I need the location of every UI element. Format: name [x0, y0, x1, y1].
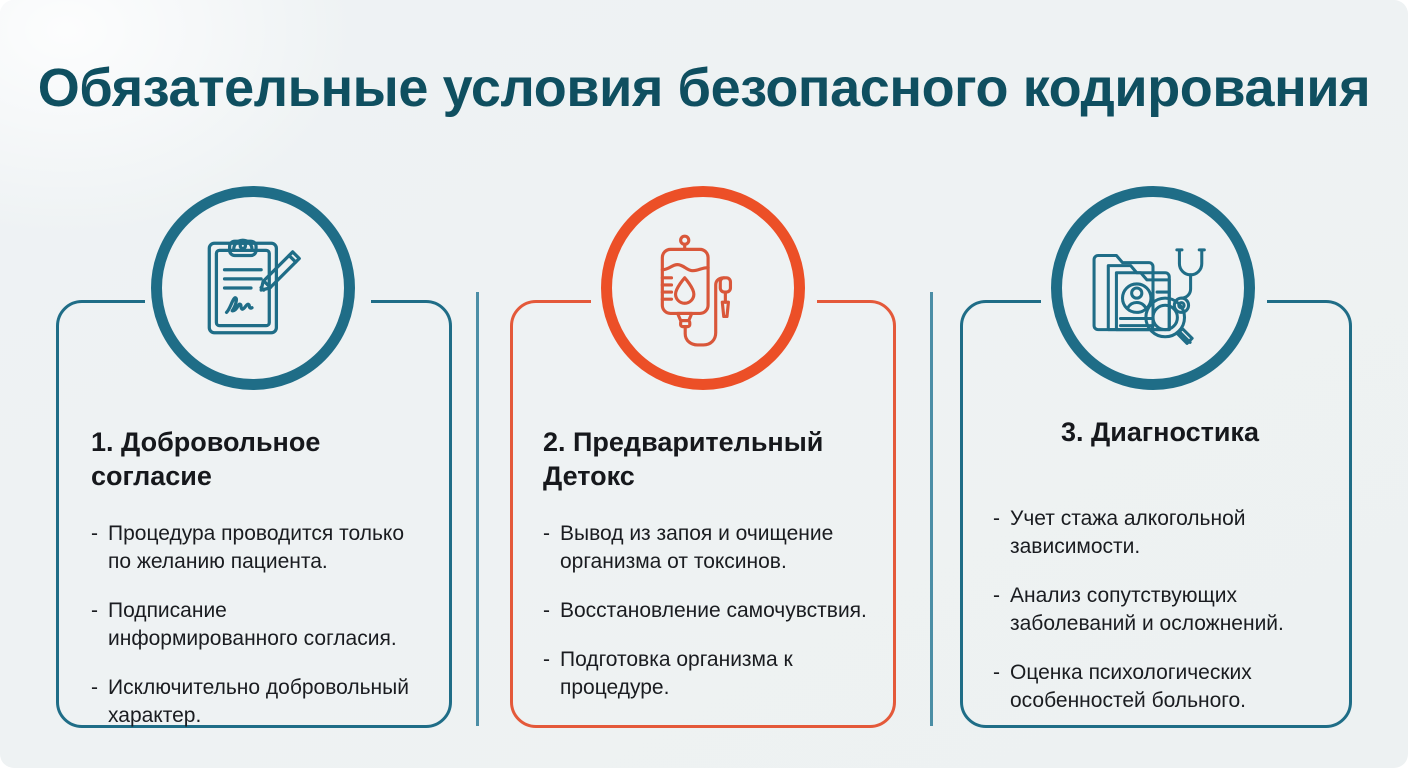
list-item: -Вывод из запоя и очищение организма от … [543, 520, 871, 576]
card-bullet-list-3: -Учет стажа алкогольной зависимости. -Ан… [993, 505, 1327, 715]
infographic-canvas: Обязательные условия безопасного кодиров… [0, 0, 1408, 768]
bullet-dash: - [993, 582, 1000, 610]
column-divider-2 [930, 292, 933, 726]
bullet-text: Оценка психологических особенностей боль… [1010, 661, 1252, 712]
bullet-text: Подписание информированного согласия. [108, 599, 397, 650]
list-item: -Учет стажа алкогольной зависимости. [993, 505, 1327, 561]
clipboard-signature-pen-icon [192, 227, 314, 349]
step-icon-circle-2 [601, 186, 805, 390]
bullet-text: Процедура проводится только по желанию п… [108, 522, 404, 573]
card-content-1: 1. Добровольное согласие -Процедура пров… [59, 425, 449, 730]
card-heading-2: 2. Предварительный Детокс [543, 425, 871, 494]
card-bullet-list-2: -Вывод из запоя и очищение организма от … [543, 520, 871, 702]
card-content-2: 2. Предварительный Детокс -Вывод из запо… [513, 425, 893, 702]
list-item: -Исключительно добровольный характер. [91, 674, 417, 730]
bullet-text: Анализ сопутствующих заболеваний и ослож… [1010, 584, 1284, 635]
list-item: -Подписание информированного согласия. [91, 597, 417, 653]
card-bullet-list-1: -Процедура проводится только по желанию … [91, 520, 417, 730]
step-icon-circle-1 [151, 186, 355, 390]
list-item: -Процедура проводится только по желанию … [91, 520, 417, 576]
card-heading-1: 1. Добровольное согласие [91, 425, 417, 494]
bullet-dash: - [543, 646, 550, 674]
bullet-dash: - [543, 597, 550, 625]
bullet-text: Вывод из запоя и очищение организма от т… [560, 522, 833, 573]
patient-file-magnifier-stethoscope-icon [1090, 225, 1216, 351]
bullet-dash: - [91, 674, 98, 702]
list-item: -Подготовка организма к процедуре. [543, 646, 871, 702]
iv-drip-bag-icon [642, 227, 764, 349]
bullet-text: Восстановление самочувствия. [560, 599, 867, 622]
bullet-dash: - [91, 520, 98, 548]
list-item: -Восстановление самочувствия. [543, 597, 871, 625]
column-divider-1 [476, 292, 479, 726]
bullet-text: Учет стажа алкогольной зависимости. [1010, 507, 1246, 558]
step-icon-circle-3 [1051, 186, 1255, 390]
list-item: -Анализ сопутствующих заболеваний и осло… [993, 582, 1327, 638]
card-content-3: 3. Диагностика -Учет стажа алкогольной з… [963, 415, 1349, 715]
bullet-dash: - [91, 597, 98, 625]
bullet-text: Подготовка организма к процедуре. [560, 648, 793, 699]
list-item: -Оценка психологических особенностей бол… [993, 659, 1327, 715]
bullet-text: Исключительно добровольный характер. [108, 676, 409, 727]
bullet-dash: - [543, 520, 550, 548]
page-title: Обязательные условия безопасного кодиров… [0, 57, 1408, 119]
bullet-dash: - [993, 659, 1000, 687]
bullet-dash: - [993, 505, 1000, 533]
card-heading-3: 3. Диагностика [993, 415, 1327, 449]
